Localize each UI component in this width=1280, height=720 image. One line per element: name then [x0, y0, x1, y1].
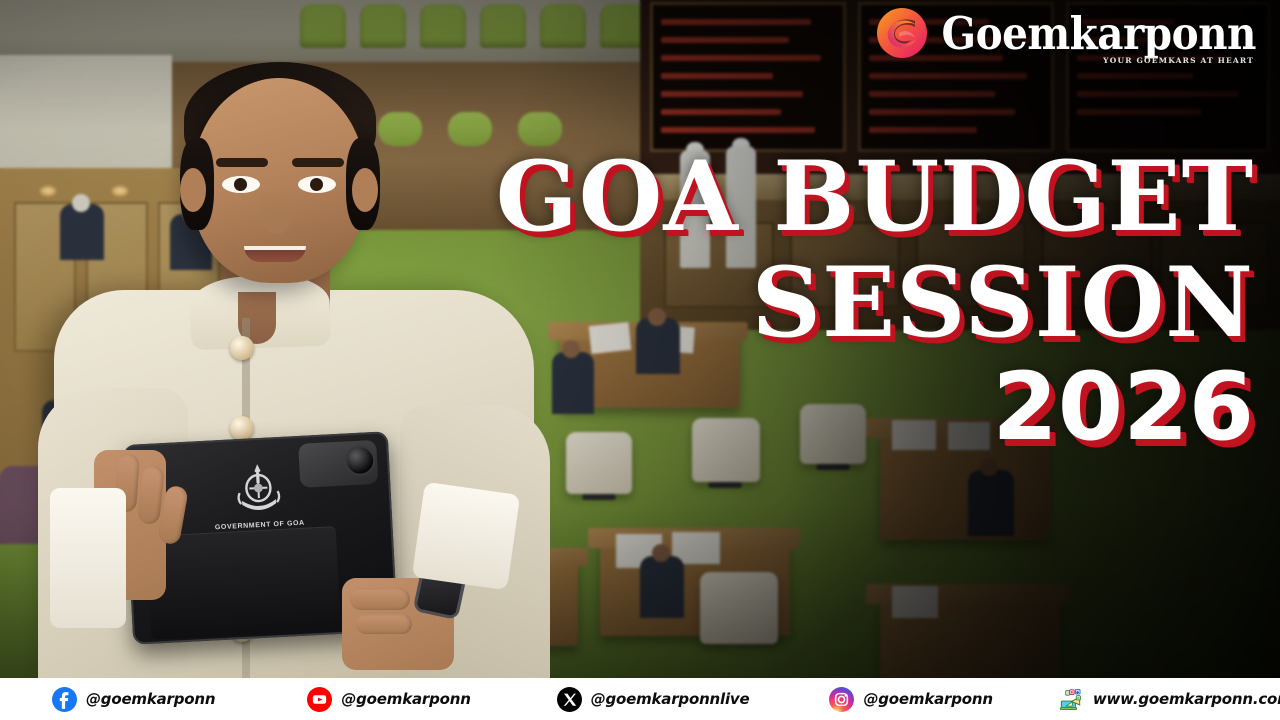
- tablet-case-flap: [146, 526, 341, 640]
- goemkarponn-g-swirl-icon: [875, 6, 929, 60]
- instagram-icon: [829, 687, 854, 712]
- jacket-button: [230, 336, 254, 360]
- subject-eyebrow: [292, 158, 344, 167]
- goemkarponn-logo[interactable]: Goemkarponn YOUR GOEMKARS AT HEART: [875, 6, 1256, 60]
- logo-tagline: YOUR GOEMKARS AT HEART: [1103, 56, 1254, 65]
- jacket-button: [230, 416, 254, 440]
- svg-text:e: e: [1077, 696, 1079, 700]
- facebook-icon: [52, 687, 77, 712]
- subject-mouth: [244, 246, 306, 262]
- government-of-goa-emblem-icon: [231, 461, 286, 522]
- social-media-bar: @goemkarponn @goemkarponn @goemkarponnli…: [0, 678, 1280, 720]
- subject-ear: [352, 168, 378, 212]
- news-graphic-poster: GOVERNMENT OF GOA: [0, 0, 1280, 720]
- website-promo-icon: e: [1059, 687, 1084, 712]
- chief-minister-portrait: GOVERNMENT OF GOA: [20, 18, 600, 678]
- subject-nose: [260, 190, 294, 234]
- social-link-facebook[interactable]: @goemkarponn: [52, 687, 215, 712]
- social-link-x[interactable]: @goemkarponnlive: [557, 687, 750, 712]
- social-link-youtube[interactable]: @goemkarponn: [307, 687, 470, 712]
- social-link-instagram[interactable]: @goemkarponn: [829, 687, 992, 712]
- subject-ear: [180, 168, 206, 212]
- youtube-icon: [307, 687, 332, 712]
- instagram-handle: @goemkarponn: [863, 690, 992, 708]
- x-handle: @goemkarponnlive: [591, 690, 750, 708]
- facebook-handle: @goemkarponn: [86, 690, 215, 708]
- subject-eyebrow: [216, 158, 268, 167]
- subject-eye: [298, 176, 336, 193]
- logo-wordmark: Goemkarponn: [941, 11, 1256, 56]
- youtube-handle: @goemkarponn: [341, 690, 470, 708]
- subject-eye: [222, 176, 260, 193]
- website-link[interactable]: e www.goemkarponn.com: [1059, 687, 1280, 712]
- website-url: www.goemkarponn.com: [1093, 690, 1280, 708]
- x-twitter-icon: [557, 687, 582, 712]
